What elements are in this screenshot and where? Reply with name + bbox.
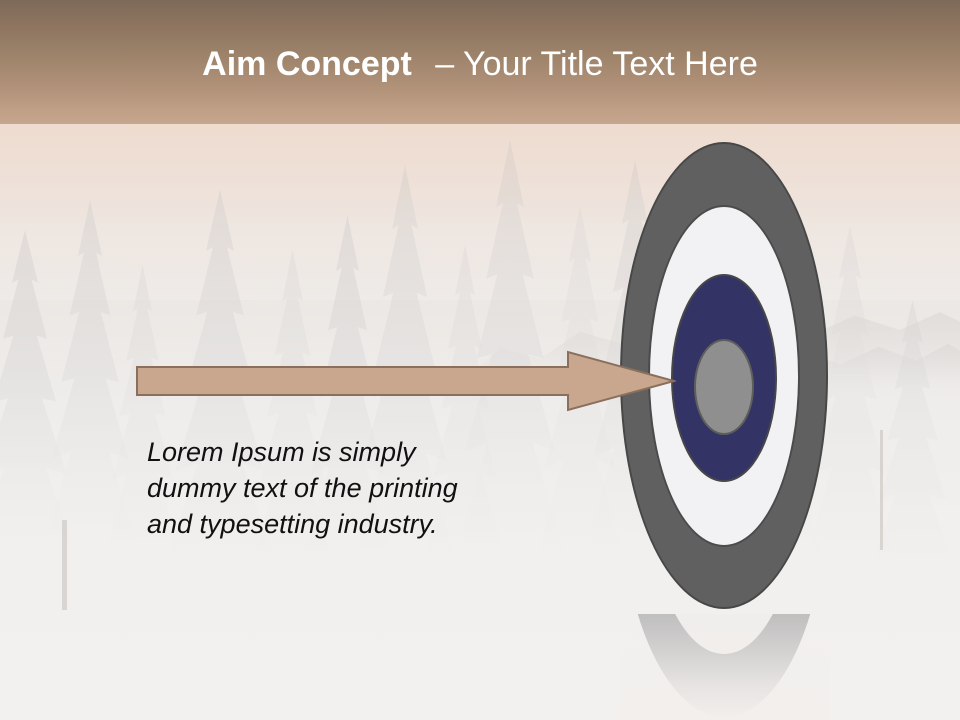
reflection-fade [620, 614, 830, 720]
right-arrow-icon [136, 350, 676, 412]
page-title-rest: – Your Title Text Here [435, 45, 758, 83]
body-text-line: Lorem Ipsum is simply [147, 434, 547, 470]
title-bar: Aim Concept – Your Title Text Here [0, 0, 960, 124]
tree-trunk [62, 520, 67, 610]
slide: Aim Concept – Your Title Text Here Lorem… [0, 0, 960, 720]
page-title-strong: Aim Concept [202, 45, 412, 83]
body-text-line: and typesetting industry. [147, 506, 547, 542]
target-reflection [620, 614, 830, 720]
body-text: Lorem Ipsum is simply dummy text of the … [147, 434, 547, 542]
body-text-line: dummy text of the printing [147, 470, 547, 506]
right-arrow[interactable] [136, 350, 676, 412]
tree-trunk [880, 430, 883, 550]
page-title: Aim Concept – Your Title Text Here [0, 44, 960, 84]
target-bullseye-center [694, 339, 754, 435]
